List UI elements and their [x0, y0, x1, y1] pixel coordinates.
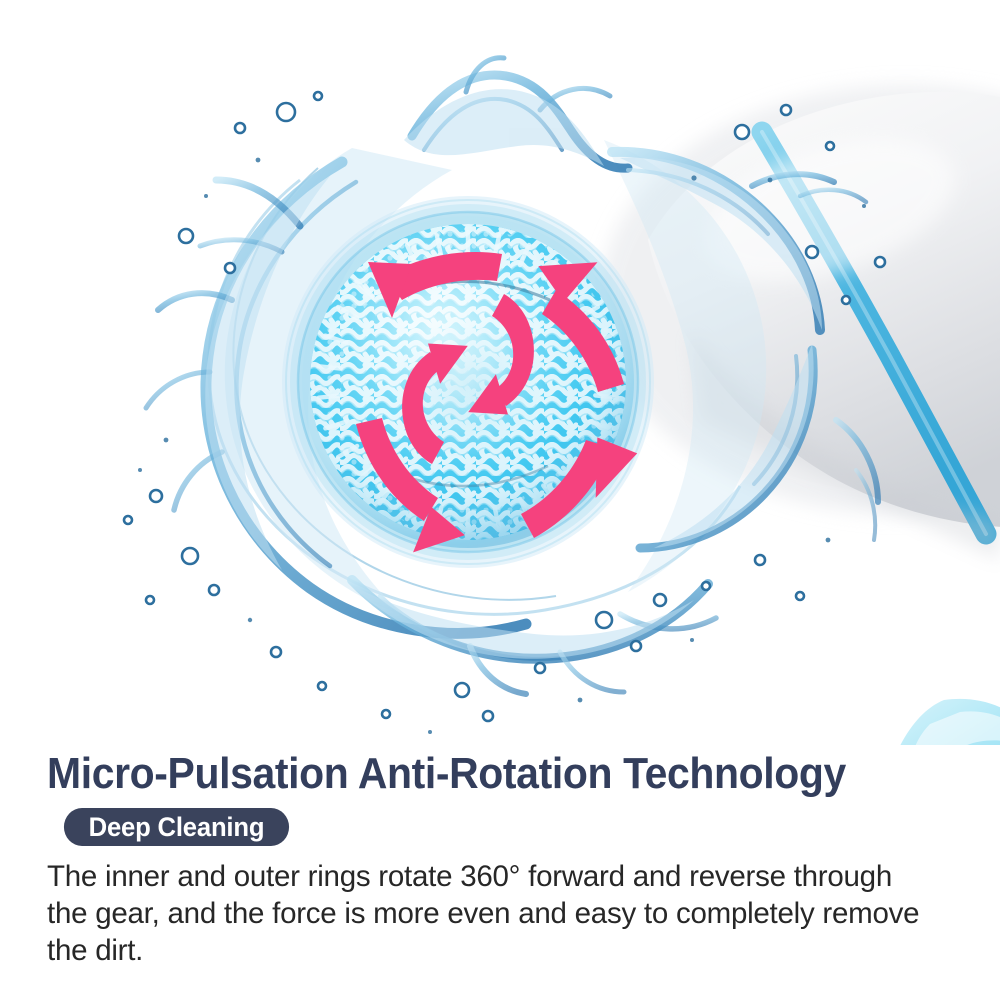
copy-block: Micro-Pulsation Anti-Rotation Technology… [0, 745, 1000, 1000]
description-text: The inner and outer rings rotate 360° fo… [47, 858, 937, 969]
product-feature-page: Micro-Pulsation Anti-Rotation Technology… [0, 0, 1000, 1000]
hero-image [0, 0, 1000, 745]
page-title: Micro-Pulsation Anti-Rotation Technology [47, 750, 846, 798]
hero-illustration [0, 0, 1000, 745]
status-badge: Deep Cleaning [64, 808, 289, 846]
